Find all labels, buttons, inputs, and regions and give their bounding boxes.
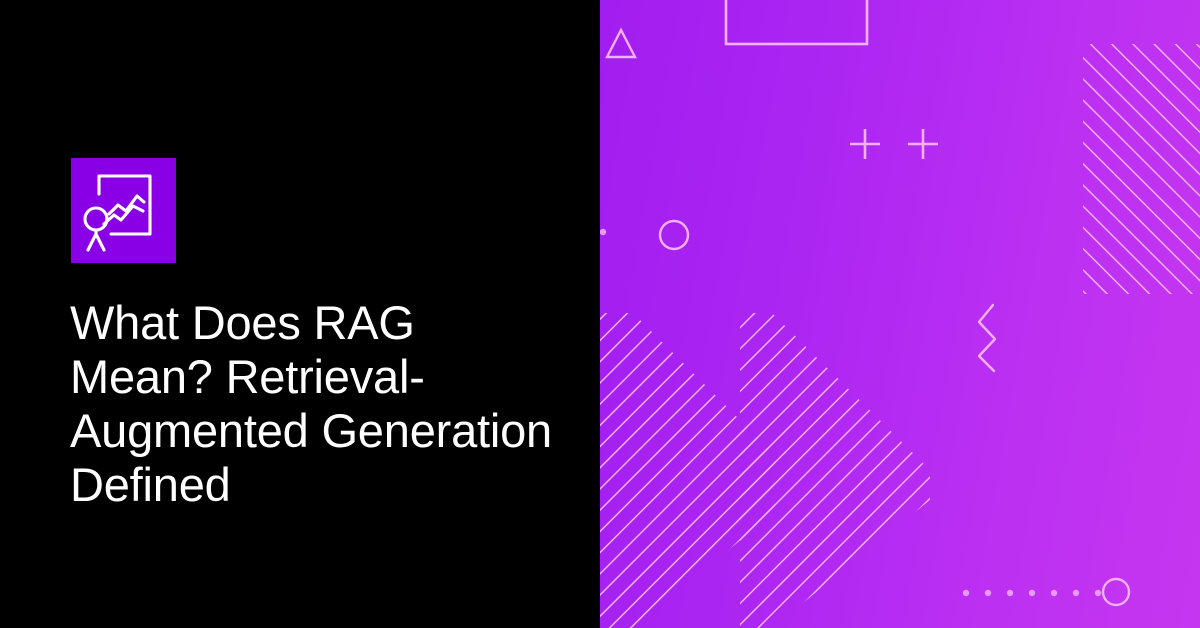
hatched-chevron-right — [730, 300, 950, 628]
triangle-outline — [607, 30, 635, 57]
hatched-square — [1083, 44, 1200, 294]
small-dot — [600, 229, 606, 235]
zigzag-line — [979, 305, 995, 371]
page-title: What Does RAG Mean? Retrieval-Augmented … — [70, 296, 570, 512]
dot-row — [963, 590, 1101, 596]
left-content-panel: What Does RAG Mean? Retrieval-Augmented … — [0, 0, 600, 628]
plus-mark-left — [850, 129, 880, 159]
presentation-chart-person-icon — [71, 158, 176, 263]
circle-outline-left — [660, 221, 688, 249]
rectangle-outline — [726, 0, 867, 44]
social-share-card: What Does RAG Mean? Retrieval-Augmented … — [0, 0, 1200, 628]
decorative-graphic-panel — [600, 0, 1200, 628]
plus-mark-right — [908, 129, 938, 159]
circle-outline-bottom — [1103, 579, 1129, 605]
